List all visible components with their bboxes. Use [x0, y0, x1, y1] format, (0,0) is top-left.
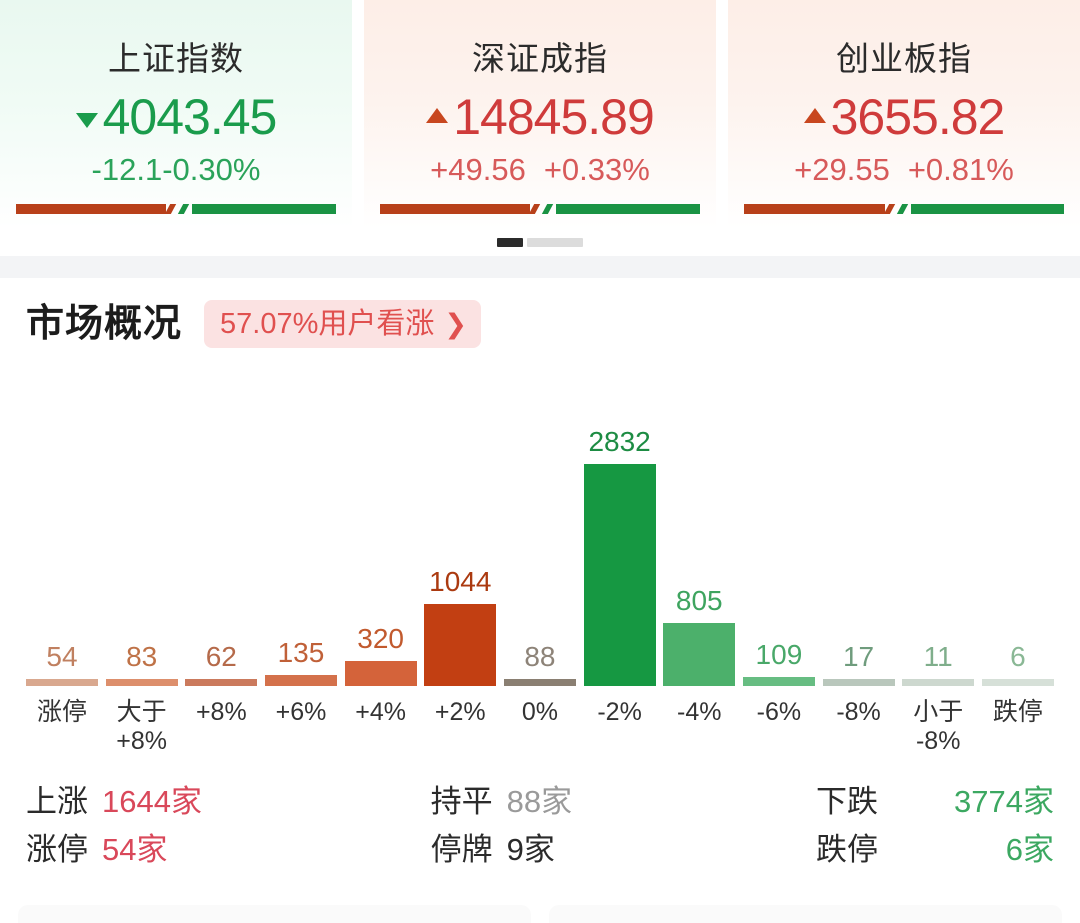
market-breadth-summary: 上涨 1644家 持平 88家 下跌 3774家 涨停 54家 停牌 9家 跌 [26, 782, 1054, 880]
bar-value-label: 1044 [429, 566, 491, 598]
summary-cell-unchanged: 持平 88家 [431, 782, 816, 822]
x-axis-tick-label: 跌停 [982, 698, 1054, 727]
bar-column[interactable]: 135 [265, 366, 337, 686]
ratio-bar-divider [166, 204, 192, 214]
x-axis-tick-label: +6% [265, 698, 337, 727]
index-card-shanghai[interactable]: 上证指数 4043.45 -12.1 -0.30% [0, 0, 352, 228]
pager-dot-active[interactable] [497, 238, 523, 247]
index-price-row: 14845.89 [426, 90, 654, 144]
bar-rect [504, 679, 576, 686]
index-name: 上证指数 [108, 40, 244, 78]
ratio-bar-green [556, 204, 700, 214]
peek-card[interactable] [18, 905, 531, 923]
bar-value-label: 11 [924, 641, 953, 673]
pager-dot-inactive[interactable] [527, 238, 583, 247]
x-axis-tick-label: 0% [504, 698, 576, 727]
bar-value-label: 17 [843, 641, 874, 673]
bar-column[interactable]: 17 [823, 366, 895, 686]
bar-rect [106, 679, 178, 686]
x-axis-tick-label: -6% [743, 698, 815, 727]
x-axis-tick-label: 大于+8% [106, 698, 178, 756]
x-axis-tick-label: +4% [345, 698, 417, 727]
x-axis-tick-label: 涨停 [26, 698, 98, 727]
next-section-peek [0, 905, 1080, 923]
bar-rect [902, 679, 974, 686]
index-change: +49.56 [430, 152, 526, 188]
advance-decline-ratio-bar [744, 204, 1064, 214]
summary-value: 88家 [507, 782, 572, 822]
ratio-bar-green [911, 204, 1064, 214]
ratio-bar-red [16, 204, 166, 214]
bar-value-label: 805 [676, 585, 723, 617]
summary-label: 跌停 [816, 830, 908, 870]
bar-rect [185, 679, 257, 686]
ratio-bar-red [380, 204, 530, 214]
index-card-chinext[interactable]: 创业板指 3655.82 +29.55 +0.81% [728, 0, 1080, 228]
index-change: -12.1 [92, 152, 163, 188]
bar-value-label: 320 [357, 623, 404, 655]
bar-value-label: 83 [126, 641, 157, 673]
bar-rect [584, 464, 656, 686]
bar-rect [982, 679, 1054, 686]
bar-value-label: 6 [1010, 641, 1026, 673]
bar-column[interactable]: 320 [345, 366, 417, 686]
index-delta-row: +49.56 +0.33% [430, 152, 650, 188]
ratio-bar-divider [885, 204, 911, 214]
table-row: 涨停 54家 停牌 9家 跌停 6家 [26, 830, 1054, 870]
index-name: 深证成指 [472, 40, 608, 78]
x-axis-tick-label: +2% [424, 698, 496, 727]
market-overview-header: 市场概况 57.07%用户看涨 ❯ [26, 278, 1054, 348]
bar-column[interactable]: 88 [504, 366, 576, 686]
summary-label: 停牌 [431, 830, 493, 870]
bar-rect [424, 604, 496, 686]
index-change-pct: +0.33% [544, 152, 650, 188]
index-price: 4043.45 [103, 90, 277, 144]
summary-value: 9家 [507, 830, 555, 870]
index-price: 14845.89 [453, 90, 654, 144]
bar-column[interactable]: 54 [26, 366, 98, 686]
index-price-row: 4043.45 [76, 90, 277, 144]
index-card-shenzhen[interactable]: 深证成指 14845.89 +49.56 +0.33% [364, 0, 716, 228]
index-price-row: 3655.82 [804, 90, 1005, 144]
x-axis-tick-label: +8% [185, 698, 257, 727]
ratio-bar-divider [530, 204, 556, 214]
index-change-pct: -0.30% [162, 152, 260, 188]
triangle-down-icon [76, 113, 98, 128]
bar-column[interactable]: 6 [982, 366, 1054, 686]
summary-label: 下跌 [816, 782, 908, 822]
bar-column[interactable]: 109 [743, 366, 815, 686]
summary-cell-declining: 下跌 3774家 [816, 782, 1054, 822]
bar-value-label: 135 [278, 637, 325, 669]
x-axis-tick-label: 小于-8% [902, 698, 974, 756]
summary-label: 涨停 [26, 830, 88, 870]
bar-value-label: 62 [206, 641, 237, 673]
bar-column[interactable]: 83 [106, 366, 178, 686]
bar-column[interactable]: 11 [902, 366, 974, 686]
bar-value-label: 2832 [588, 426, 650, 458]
bar-value-label: 109 [756, 639, 803, 671]
bar-rect [265, 675, 337, 686]
carousel-pager[interactable] [0, 228, 1080, 256]
distribution-bar-chart: 548362135320104488283280510917116 [26, 366, 1054, 686]
advance-decline-ratio-bar [16, 204, 336, 214]
sentiment-badge[interactable]: 57.07%用户看涨 ❯ [204, 300, 481, 348]
ratio-bar-red [744, 204, 885, 214]
summary-value: 3774家 [922, 782, 1054, 822]
index-change-pct: +0.81% [908, 152, 1014, 188]
summary-value: 1644家 [102, 782, 202, 822]
sentiment-badge-label: 57.07%用户看涨 [220, 307, 434, 341]
section-divider [0, 256, 1080, 278]
summary-value: 54家 [102, 830, 167, 870]
bar-rect [823, 679, 895, 686]
index-cards-carousel[interactable]: 上证指数 4043.45 -12.1 -0.30% 深证成指 14845.89 … [0, 0, 1080, 228]
ratio-bar-green [192, 204, 336, 214]
x-axis-tick-label: -8% [823, 698, 895, 727]
index-price: 3655.82 [831, 90, 1005, 144]
bar-rect [663, 623, 735, 686]
x-axis-tick-label: -2% [584, 698, 656, 727]
bar-column[interactable]: 805 [663, 366, 735, 686]
summary-cell-suspended: 停牌 9家 [431, 830, 816, 870]
bar-column[interactable]: 1044 [424, 366, 496, 686]
bar-column[interactable]: 62 [185, 366, 257, 686]
triangle-up-icon [804, 108, 826, 123]
summary-cell-limit-down: 跌停 6家 [816, 830, 1054, 870]
index-delta-row: +29.55 +0.81% [794, 152, 1014, 188]
bar-rect [26, 679, 98, 686]
summary-label: 上涨 [26, 782, 88, 822]
summary-label: 持平 [431, 782, 493, 822]
table-row: 上涨 1644家 持平 88家 下跌 3774家 [26, 782, 1054, 822]
bar-column[interactable]: 2832 [584, 366, 656, 686]
market-overview-section: 市场概况 57.07%用户看涨 ❯ 5483621353201044882832… [0, 278, 1080, 880]
bar-rect [345, 661, 417, 686]
chevron-right-icon: ❯ [444, 309, 467, 339]
chart-x-axis: 涨停大于+8%+8%+6%+4%+2%0%-2%-4%-6%-8%小于-8%跌停 [26, 698, 1054, 756]
peek-card[interactable] [549, 905, 1062, 923]
index-change: +29.55 [794, 152, 890, 188]
triangle-up-icon [426, 108, 448, 123]
advance-decline-ratio-bar [380, 204, 700, 214]
index-name: 创业板指 [836, 40, 972, 78]
bar-value-label: 88 [524, 641, 555, 673]
bar-value-label: 54 [46, 641, 77, 673]
x-axis-tick-label: -4% [663, 698, 735, 727]
summary-value: 6家 [922, 830, 1054, 870]
summary-cell-limit-up: 涨停 54家 [26, 830, 431, 870]
summary-cell-advancing: 上涨 1644家 [26, 782, 431, 822]
index-delta-row: -12.1 -0.30% [92, 152, 261, 188]
bar-rect [743, 677, 815, 686]
page-title: 市场概况 [26, 302, 182, 346]
